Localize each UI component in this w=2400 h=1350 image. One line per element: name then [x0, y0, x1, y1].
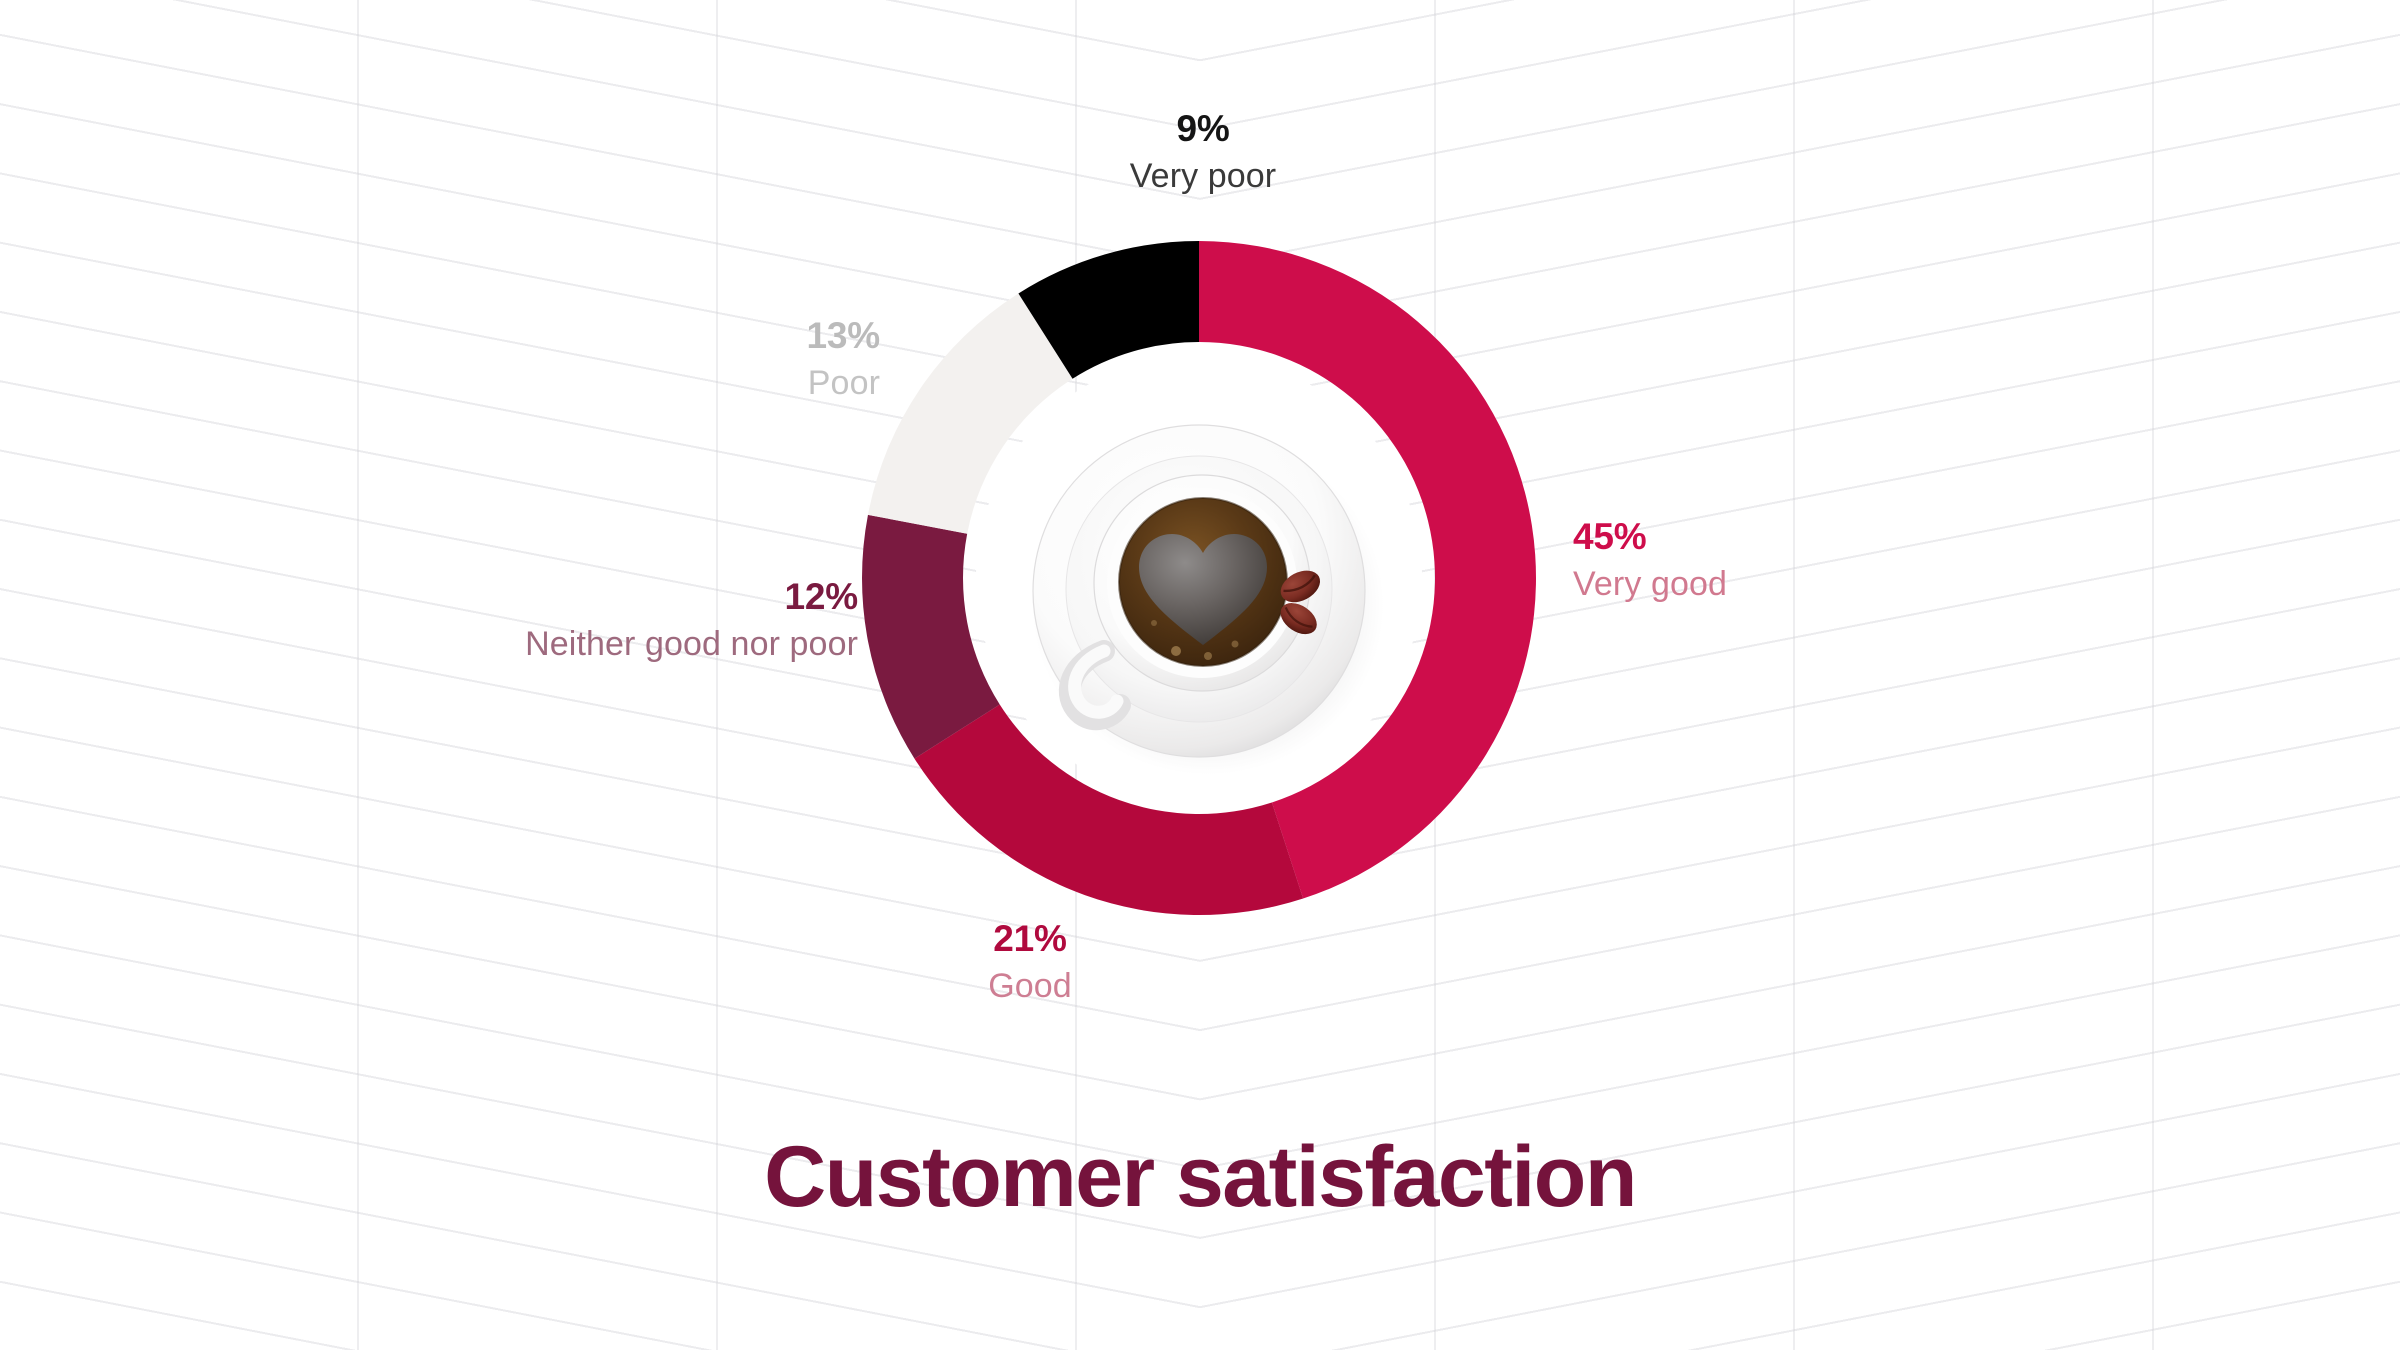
coffee-cup-illustration: [976, 355, 1422, 801]
slice-label-poor: 13% Poor: [807, 317, 880, 400]
slice-value-very-good: 45%: [1573, 518, 1727, 555]
slice-name-good: Good: [988, 969, 1072, 1003]
slice-label-neither-good-nor-poor: 12% Neither good nor poor: [525, 578, 858, 661]
slice-name-poor: Poor: [807, 366, 880, 400]
slice-value-poor: 13%: [807, 317, 880, 354]
slice-value-good: 21%: [988, 920, 1072, 957]
center-coffee-cup-image: [976, 355, 1422, 801]
slice-label-good: 21% Good: [988, 920, 1072, 1003]
slice-name-very-good: Very good: [1573, 567, 1727, 601]
slice-value-very-poor: 9%: [1130, 110, 1276, 147]
slice-label-very-good: 45% Very good: [1573, 518, 1727, 601]
slice-value-neither-good-nor-poor: 12%: [525, 578, 858, 615]
slice-name-very-poor: Very poor: [1130, 159, 1276, 193]
slice-label-very-poor: 9% Very poor: [1130, 110, 1276, 193]
slice-name-neither-good-nor-poor: Neither good nor poor: [525, 627, 858, 661]
chart-stage: 9% Very poor 13% Poor 12% Neither good n…: [0, 0, 2400, 1350]
page-title: Customer satisfaction: [764, 1128, 1636, 1227]
